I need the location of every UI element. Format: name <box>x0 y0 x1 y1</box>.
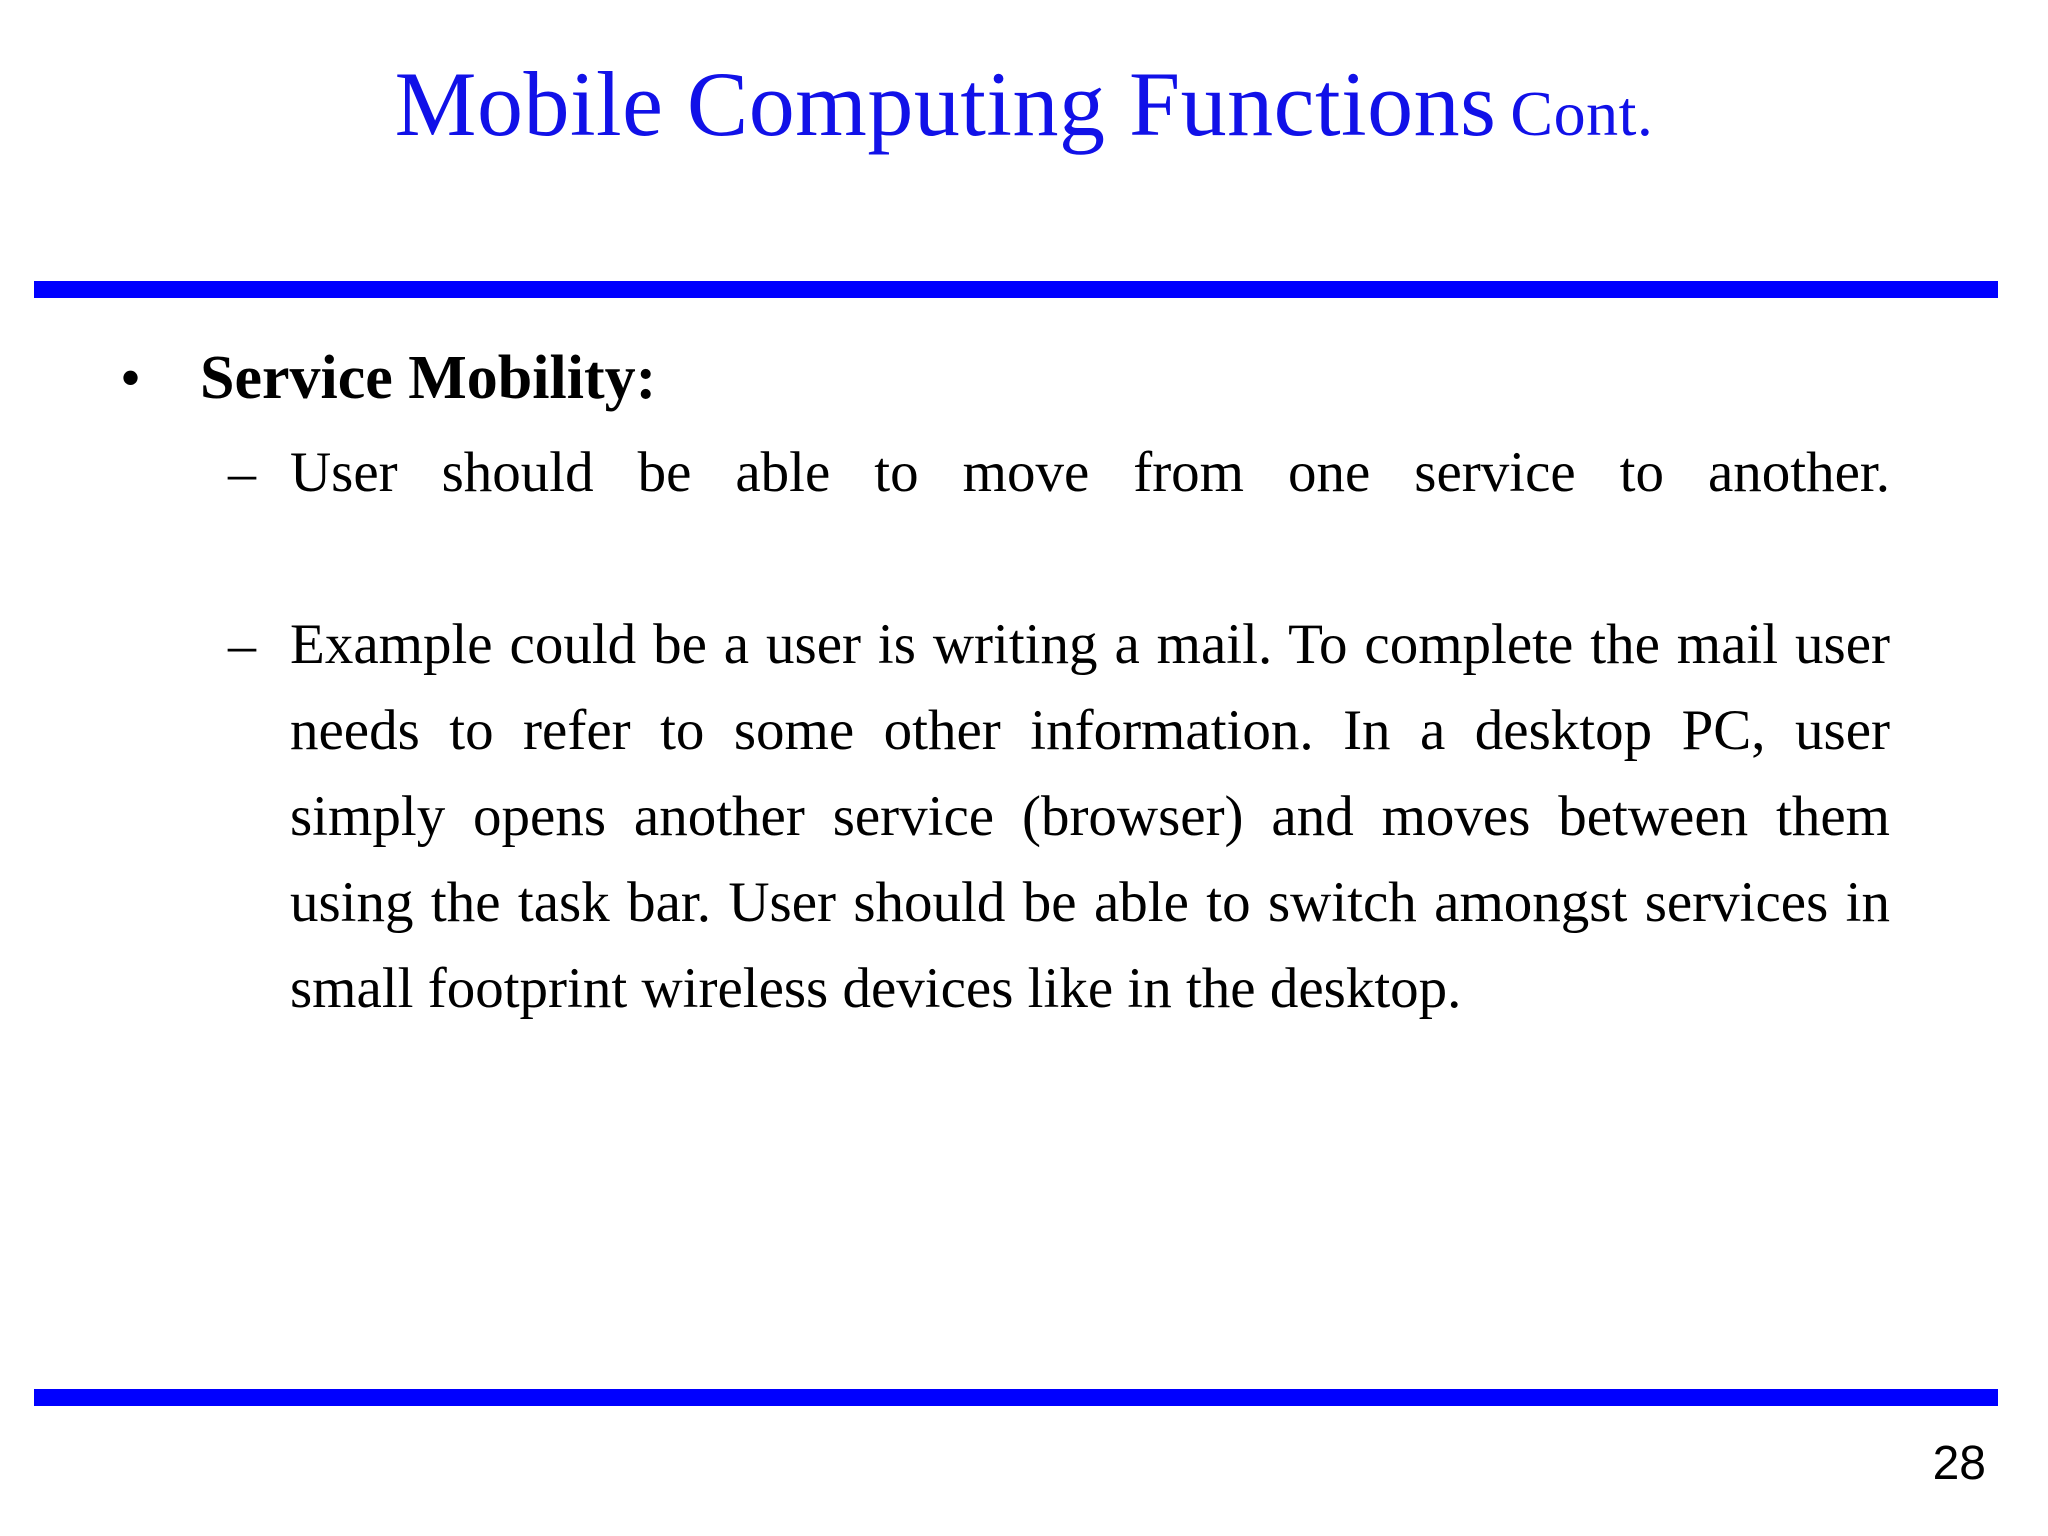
sub-bullet-item-label: Example could be a user is writing a mai… <box>290 602 1890 1032</box>
slide-title-suffix: Cont. <box>1510 78 1653 149</box>
page-number: 28 <box>1933 1436 1986 1492</box>
slide-title-main: Mobile Computing Functions <box>395 53 1497 155</box>
sub-bullet-item-move-between-services: – User should be able to move from one s… <box>290 430 1890 602</box>
title-divider-top <box>34 281 1998 298</box>
bullet-dot-icon: • <box>120 340 141 416</box>
slide-canvas: Mobile Computing FunctionsCont. • Servic… <box>0 0 2048 1536</box>
bullet-item-label: Service Mobility: <box>200 340 2048 416</box>
sub-bullet-item-mail-example: – Example could be a user is writing a m… <box>290 602 1890 1032</box>
footer-divider-bottom <box>34 1389 1998 1406</box>
slide-body: • Service Mobility: – User should be abl… <box>0 340 2048 1370</box>
dash-bullet-icon: – <box>228 602 256 688</box>
sub-bullet-item-label: User should be able to move from one ser… <box>290 430 1890 602</box>
slide-title: Mobile Computing FunctionsCont. <box>0 56 2048 153</box>
dash-bullet-icon: – <box>228 430 256 516</box>
bullet-item-service-mobility: • Service Mobility: <box>0 340 2048 416</box>
